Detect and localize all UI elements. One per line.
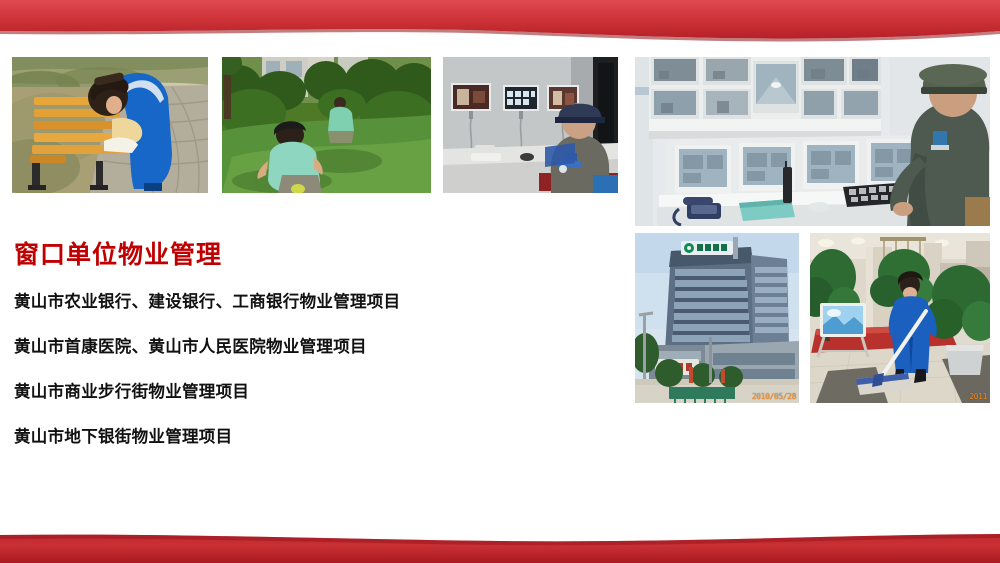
bullet-item-3: 黄山市商业步行街物业管理项目 — [14, 383, 614, 403]
top-band-shape — [0, 0, 1000, 46]
photo-date-stamp: 2010/05/28 — [752, 392, 796, 401]
content-block: 窗口单位物业管理 黄山市农业银行、建设银行、工商银行物业管理项目 黄山市首康医院… — [14, 240, 614, 447]
photo-bench-cleaning: worker in blue uniform cleaning wooden p… — [12, 57, 208, 193]
photo-date-stamp: 2011 — [969, 392, 987, 401]
bench-scene — [12, 57, 208, 193]
top-decor-band — [0, 0, 1000, 46]
bank-building-scene — [635, 233, 799, 403]
photo-gardening: two gardeners tending lawn and shrubs — [222, 57, 431, 193]
photo-control-room: security control room wall of monitors w… — [635, 57, 990, 226]
control-room-scene — [635, 57, 990, 226]
bottom-band-shape — [0, 515, 1000, 563]
bullet-item-4: 黄山市地下银街物业管理项目 — [14, 428, 614, 448]
lobby-mopping-scene — [810, 233, 990, 403]
photo-lobby-mopping: 2011 cleaner mopping marble lobby floor … — [810, 233, 990, 403]
bottom-decor-band — [0, 515, 1000, 563]
page-title: 窗口单位物业管理 — [14, 240, 614, 271]
gardening-scene — [222, 57, 431, 193]
photo-cctv-monitoring: uniformed guard watching three CCTV moni… — [443, 57, 618, 193]
bullet-item-2: 黄山市首康医院、黄山市人民医院物业管理项目 — [14, 338, 614, 358]
cctv-small-scene — [443, 57, 618, 193]
bullet-item-1: 黄山市农业银行、建设银行、工商银行物业管理项目 — [14, 293, 614, 313]
photo-bank-building: 2010/05/28 multi-storey bank office buil… — [635, 233, 799, 403]
